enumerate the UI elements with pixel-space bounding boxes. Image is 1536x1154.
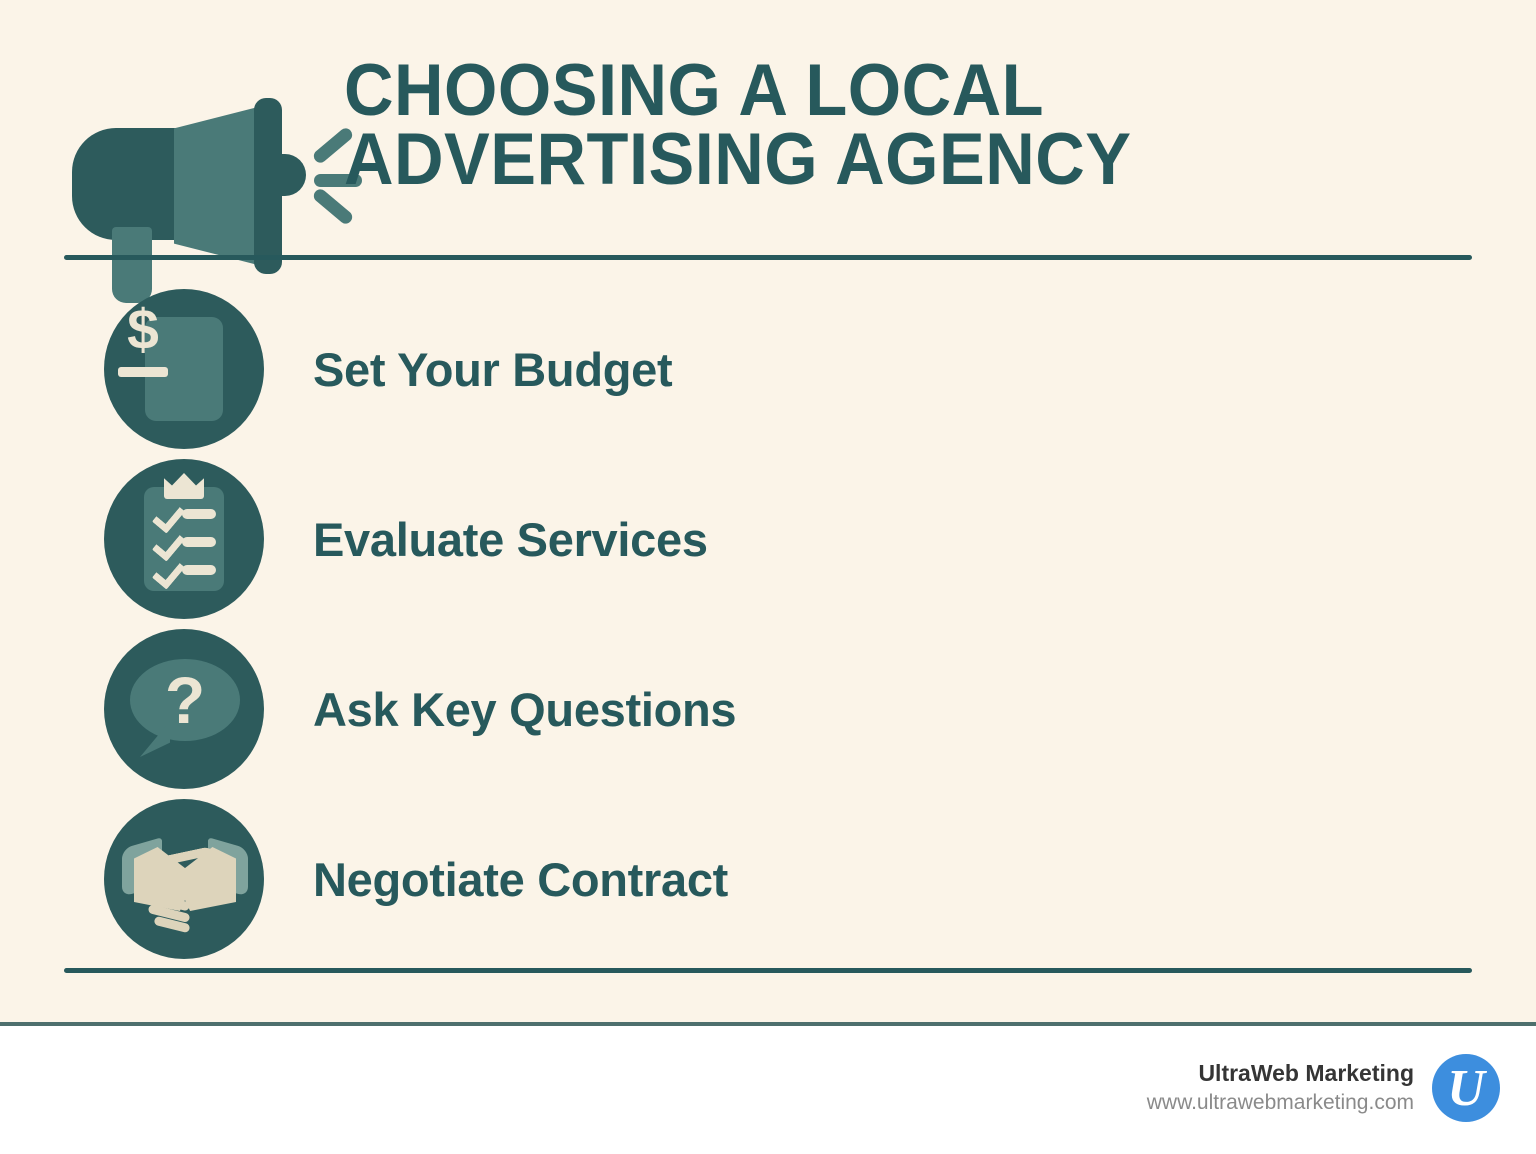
megaphone-body: [72, 128, 182, 240]
poster-body: CHOOSING A LOCAL ADVERTISING AGENCY $ Se…: [0, 0, 1536, 1026]
dollar-sign-glyph: $: [104, 299, 182, 361]
megaphone-cone: [174, 106, 262, 266]
checklist-line: [182, 537, 216, 547]
list-item[interactable]: Negotiate Contract: [104, 794, 1404, 964]
ultraweb-u-logo-icon: U: [1432, 1054, 1500, 1122]
money-document-icon: $: [104, 289, 264, 449]
list-item[interactable]: Evaluate Services: [104, 454, 1404, 624]
brand-name: UltraWeb Marketing: [1147, 1058, 1414, 1088]
poster-footer: UltraWeb Marketing www.ultrawebmarketing…: [0, 1026, 1536, 1150]
list-item[interactable]: $ Set Your Budget: [104, 284, 1404, 454]
question-mark-glyph: ?: [130, 657, 240, 743]
question-speech-bubble-icon: ?: [104, 629, 264, 789]
document-underline: [118, 367, 168, 377]
handshake-icon: [104, 799, 264, 959]
megaphone-knob: [272, 154, 306, 196]
step-label: Negotiate Contract: [313, 852, 728, 907]
megaphone-icon: [64, 52, 300, 232]
step-label: Set Your Budget: [313, 342, 672, 397]
checklist-line: [182, 509, 216, 519]
infographic-poster: CHOOSING A LOCAL ADVERTISING AGENCY $ Se…: [0, 0, 1536, 1154]
page-title: CHOOSING A LOCAL ADVERTISING AGENCY: [344, 46, 1132, 195]
footer-text-block: UltraWeb Marketing www.ultrawebmarketing…: [1147, 1058, 1414, 1118]
step-label: Ask Key Questions: [313, 682, 736, 737]
logo-letter: U: [1432, 1054, 1500, 1122]
clipboard-clip: [164, 473, 204, 499]
brand-website[interactable]: www.ultrawebmarketing.com: [1147, 1088, 1414, 1118]
divider-bottom: [64, 968, 1472, 973]
steps-list: $ Set Your Budget Evaluate Services: [104, 284, 1404, 964]
poster-header: CHOOSING A LOCAL ADVERTISING AGENCY: [64, 46, 1472, 232]
checklist-line: [182, 565, 216, 575]
step-label: Evaluate Services: [313, 512, 708, 567]
divider-top: [64, 255, 1472, 260]
checklist-clipboard-icon: [104, 459, 264, 619]
list-item[interactable]: ? Ask Key Questions: [104, 624, 1404, 794]
